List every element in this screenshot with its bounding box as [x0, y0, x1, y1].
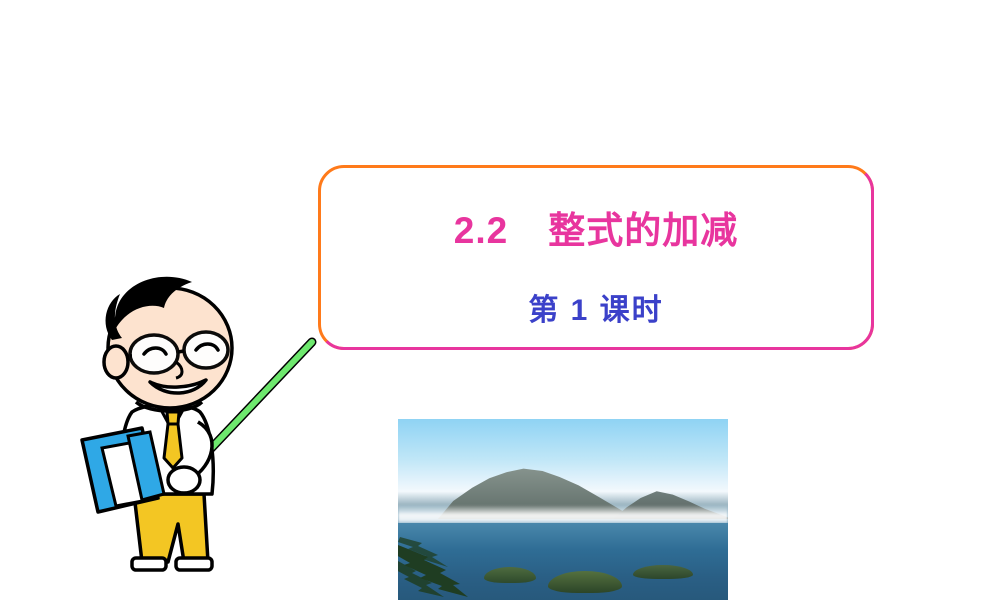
island-left [484, 567, 536, 583]
subtitle: 第 1 课时 [318, 285, 874, 329]
page-title: 2.2整式的加减 [318, 200, 874, 254]
scenery-photo: 泸沽湖风景照片：远山、云带、湖面与小岛 [398, 419, 728, 600]
head [104, 277, 232, 411]
island-right [633, 565, 693, 579]
cartoon-teacher [72, 262, 372, 592]
pine-branch-icon [398, 537, 472, 600]
ear-icon [104, 346, 128, 378]
section-number: 2.2 [454, 210, 508, 251]
title-heading: 整式的加减 [548, 210, 738, 251]
necktie-icon [164, 412, 182, 468]
trousers [132, 494, 212, 570]
blue-bag-icon [82, 428, 164, 512]
